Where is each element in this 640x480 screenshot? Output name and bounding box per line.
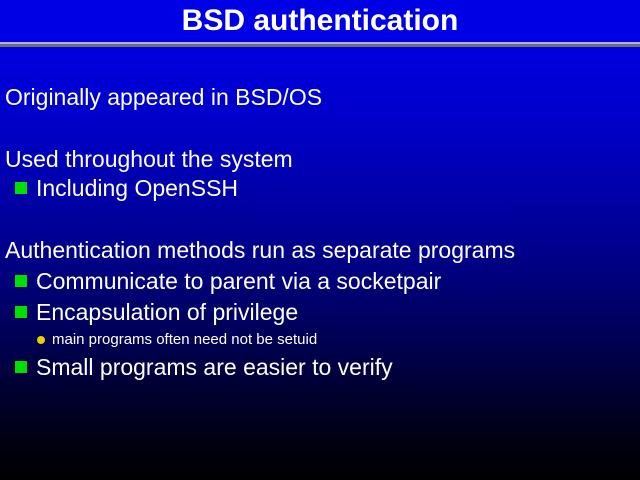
bullet-item-level-2: Encapsulation of privilege — [15, 298, 298, 326]
bullet-item-level-1: Authentication methods run as separate p… — [5, 236, 515, 264]
slide-body: Originally appeared in BSD/OSUsed throug… — [0, 47, 640, 480]
slide-title-band: BSD authentication — [0, 0, 640, 42]
presentation-slide: BSD authentication Originally appeared i… — [0, 0, 640, 480]
bullet-text: main programs often need not be setuid — [52, 330, 317, 350]
bullet-list: Originally appeared in BSD/OSUsed throug… — [0, 47, 640, 480]
bullet-item-level-1: Used throughout the system — [5, 145, 293, 173]
bullet-text: Including OpenSSH — [36, 174, 238, 202]
green-square-bullet-icon — [15, 361, 27, 373]
bullet-item-level-2: Including OpenSSH — [15, 174, 238, 202]
bullet-text: Encapsulation of privilege — [36, 298, 298, 326]
bullet-text: Used throughout the system — [5, 145, 293, 173]
slide-title: BSD authentication — [0, 3, 640, 39]
bullet-text: Communicate to parent via a socketpair — [36, 267, 441, 295]
green-square-bullet-icon — [15, 182, 27, 194]
green-square-bullet-icon — [15, 306, 27, 318]
bullet-text: Originally appeared in BSD/OS — [5, 83, 322, 111]
green-square-bullet-icon — [15, 275, 27, 287]
bullet-item-level-2: Small programs are easier to verify — [15, 353, 393, 381]
yellow-dot-bullet-icon — [37, 336, 45, 344]
bullet-item-level-3: main programs often need not be setuid — [37, 330, 317, 350]
bullet-text: Small programs are easier to verify — [36, 353, 393, 381]
bullet-item-level-2: Communicate to parent via a socketpair — [15, 267, 441, 295]
bullet-text: Authentication methods run as separate p… — [5, 236, 515, 264]
bullet-item-level-1: Originally appeared in BSD/OS — [5, 83, 322, 111]
